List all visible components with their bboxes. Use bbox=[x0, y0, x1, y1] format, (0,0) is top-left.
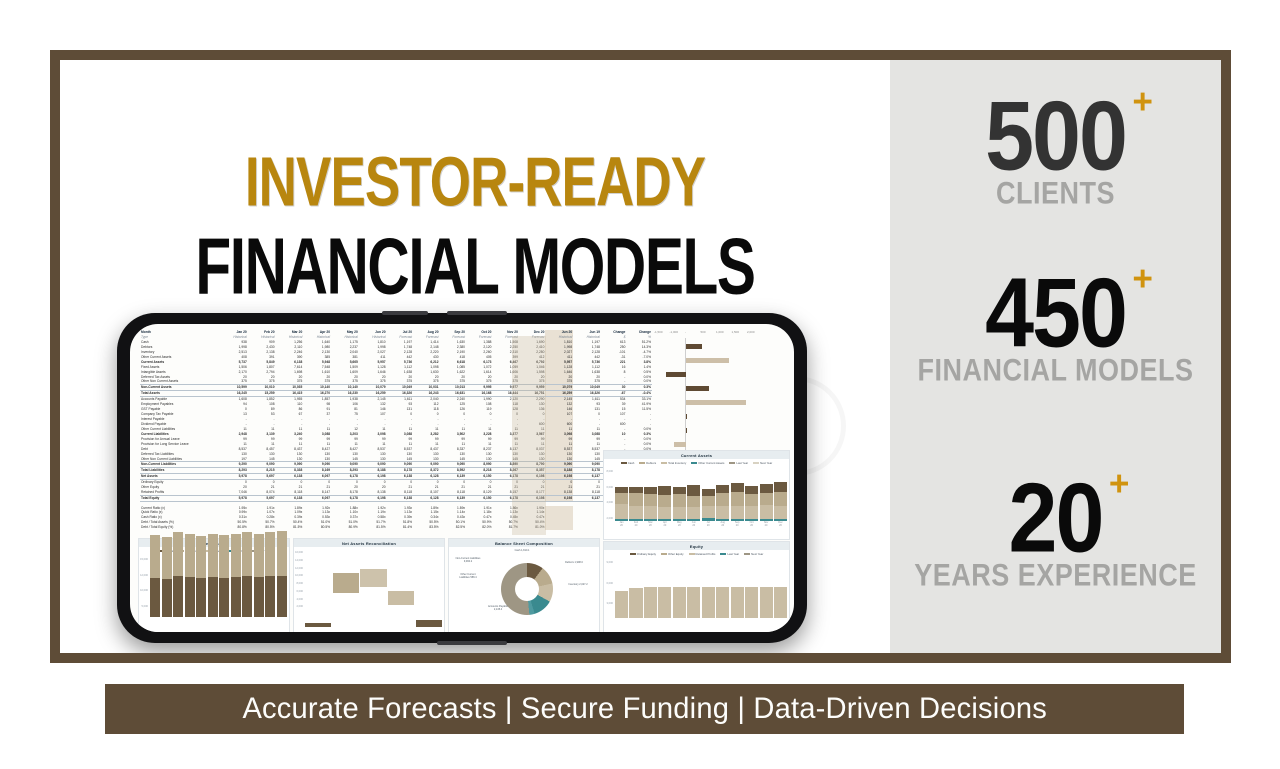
legend-swatch bbox=[639, 462, 645, 464]
bar-segment bbox=[196, 536, 206, 578]
cell: 80.5% bbox=[248, 525, 276, 530]
x-tick-label: Apr20 bbox=[658, 522, 671, 530]
bar-segment bbox=[774, 482, 787, 492]
legend-swatch bbox=[689, 553, 695, 555]
bar-segment bbox=[745, 494, 758, 506]
chart-title-composition: Balance Sheet Composition bbox=[449, 539, 599, 547]
variance-bar bbox=[686, 414, 687, 419]
bar-segment bbox=[644, 506, 657, 519]
bar-segment bbox=[658, 507, 671, 519]
bar-group bbox=[716, 485, 729, 521]
pie-slice-label: Other Current Liabilities 588.4 bbox=[455, 573, 481, 579]
x-tick-label: Jan20 bbox=[615, 522, 628, 530]
bar-segment bbox=[716, 587, 729, 618]
row-label: Debt / Total Equity (%) bbox=[140, 525, 220, 530]
bar-segment bbox=[687, 587, 700, 618]
bar-group bbox=[731, 483, 744, 521]
axis-label: 14,000 bbox=[295, 559, 303, 562]
bar-segment bbox=[185, 534, 195, 577]
stats-rail: 500+ CLIENTS 450+ FINANCIAL MODELS 20+ Y… bbox=[890, 60, 1221, 653]
bar-segment bbox=[731, 492, 744, 506]
bar-segment bbox=[185, 577, 195, 617]
balance-sheet-grid[interactable]: MonthJan 20Feb 20Mar 20Apr 20May 20Jun 2… bbox=[140, 330, 652, 535]
bar-segment bbox=[615, 591, 628, 618]
bar-segment bbox=[702, 587, 715, 618]
x-tick-label: Nov20 bbox=[760, 522, 773, 530]
axis-label: 4,000 bbox=[297, 598, 304, 601]
bar-segment bbox=[388, 591, 414, 605]
cell: 80.9% bbox=[331, 525, 359, 530]
x-tick-label: Jun20 bbox=[687, 522, 700, 530]
plus-icon: + bbox=[1132, 86, 1153, 119]
axis-label: 5,000 bbox=[142, 605, 149, 608]
legend-item: Next Year bbox=[753, 461, 772, 465]
stat-number-clients: 500+ bbox=[985, 91, 1126, 182]
bar-group bbox=[231, 534, 241, 617]
legend-swatch bbox=[691, 462, 697, 464]
bar-segment bbox=[774, 506, 787, 519]
bar-segment bbox=[760, 484, 773, 493]
bar-segment bbox=[208, 534, 218, 577]
stat-caption-financial-models: FINANCIAL MODELS bbox=[890, 354, 1221, 387]
bar-segment bbox=[760, 587, 773, 618]
bar-segment bbox=[702, 489, 715, 496]
axis-tick: 2,000 bbox=[747, 330, 755, 334]
bar-group bbox=[615, 487, 628, 521]
chart-legend-current-assets: CashDebtorsTotal InventoryOther Current … bbox=[604, 459, 789, 466]
bar-group bbox=[760, 484, 773, 521]
axis-label: 16,000 bbox=[295, 551, 303, 554]
bar-group bbox=[673, 487, 686, 521]
bar-segment bbox=[277, 531, 287, 576]
bar-group bbox=[242, 532, 252, 617]
axis-label: 10,000 bbox=[295, 574, 303, 577]
bar-segment bbox=[687, 496, 700, 507]
axis-label: 12,000 bbox=[295, 567, 303, 570]
x-labels-current-assets: Jan20Feb20Mar20Apr20May20Jun20Jul20Aug20… bbox=[615, 522, 787, 530]
x-tick-label: Oct20 bbox=[745, 522, 758, 530]
bar-segment bbox=[629, 506, 642, 518]
bar-segment bbox=[150, 578, 160, 617]
x-tick-label: Dec20 bbox=[774, 522, 787, 530]
variance-bar bbox=[674, 442, 686, 447]
bar-segment bbox=[745, 587, 758, 618]
bar-segment bbox=[687, 507, 700, 519]
showcase-panel: INVESTOR-READY FINANCIAL MODELS MonthJan… bbox=[60, 60, 890, 653]
balance-sheet-table[interactable]: MonthJan 20Feb 20Mar 20Apr 20May 20Jun 2… bbox=[140, 330, 652, 530]
variance-bar bbox=[686, 428, 687, 433]
bar-segment bbox=[162, 537, 172, 579]
table-row[interactable]: Debt / Total Equity (%)80.8%80.5%81.5%80… bbox=[140, 525, 652, 530]
bars-reconciliation bbox=[305, 549, 442, 627]
chart-panel-composition[interactable]: Balance Sheet Composition Cash 1,810.1De… bbox=[448, 538, 600, 632]
bar-segment bbox=[629, 493, 642, 507]
bar-segment bbox=[731, 483, 744, 492]
bar-segment bbox=[333, 573, 359, 593]
bar-group bbox=[702, 587, 715, 618]
bar-group bbox=[196, 536, 206, 617]
bar-group bbox=[745, 486, 758, 521]
axis-tick: - bbox=[685, 330, 686, 334]
bar-segment bbox=[265, 576, 275, 617]
bar-segment bbox=[702, 506, 715, 518]
bar-group bbox=[615, 591, 628, 618]
legend-item: Cash bbox=[621, 461, 635, 465]
bar-segment bbox=[760, 493, 773, 506]
donut-hole bbox=[515, 577, 539, 601]
bar-group bbox=[277, 531, 287, 617]
bar-segment bbox=[687, 485, 700, 495]
bar-segment bbox=[196, 578, 206, 617]
legend-item: Retained Profits bbox=[689, 552, 716, 556]
x-tick-label: Mar20 bbox=[644, 522, 657, 530]
chart-title-reconciliation: Net Assets Reconciliation bbox=[294, 539, 444, 547]
bar-segment bbox=[716, 506, 729, 519]
bar-segment bbox=[644, 487, 657, 494]
cell: 81.5% bbox=[359, 525, 387, 530]
bar-group bbox=[644, 587, 657, 618]
legend-item: Total Inventory bbox=[661, 461, 686, 465]
legend-swatch bbox=[661, 553, 667, 555]
tagline-text: Accurate Forecasts | Secure Funding | Da… bbox=[242, 692, 1047, 726]
cell bbox=[545, 525, 573, 530]
headline-line-1: INVESTOR-READY bbox=[89, 148, 861, 218]
bar-segment bbox=[745, 486, 758, 494]
bar-segment bbox=[629, 588, 642, 619]
chart-panel-net-assets[interactable]: Net Assets AssetsLiabilitiesNet AssetsLa… bbox=[138, 538, 290, 632]
x-tick-label: Feb20 bbox=[629, 522, 642, 530]
financial-model-dashboard: MonthJan 20Feb 20Mar 20Apr 20May 20Jun 2… bbox=[130, 324, 794, 632]
variance-bar bbox=[686, 400, 746, 405]
hero-inner-panel: INVESTOR-READY FINANCIAL MODELS MonthJan… bbox=[60, 60, 1221, 653]
bars-equity bbox=[615, 559, 787, 618]
chart-title-current-assets: Current Assets bbox=[604, 451, 789, 459]
cell: 80.5% bbox=[303, 525, 331, 530]
bar-group bbox=[658, 486, 671, 521]
cell: 83.5% bbox=[413, 525, 439, 530]
bar-segment bbox=[673, 587, 686, 618]
bar-segment bbox=[673, 487, 686, 494]
x-tick-label: Sep20 bbox=[731, 522, 744, 530]
phone-screen: MonthJan 20Feb 20Mar 20Apr 20May 20Jun 2… bbox=[130, 324, 794, 632]
bar-segment bbox=[231, 577, 241, 617]
axis-tick: -1,500 bbox=[654, 330, 663, 334]
legend-swatch bbox=[621, 462, 627, 464]
bar-group bbox=[716, 587, 729, 618]
legend-swatch bbox=[720, 553, 726, 555]
stat-clients: 500+ CLIENTS bbox=[890, 96, 1221, 205]
bar-segment bbox=[702, 496, 715, 506]
stat-caption-clients: CLIENTS bbox=[890, 177, 1221, 210]
axis-label: 10,000 bbox=[140, 589, 148, 592]
legend-item: Other Equity bbox=[661, 552, 684, 556]
bar-segment bbox=[242, 576, 252, 617]
stat-financial-models: 450+ FINANCIAL MODELS bbox=[890, 273, 1221, 382]
bar-group bbox=[731, 587, 744, 618]
bar-group bbox=[629, 487, 642, 521]
y-axis-current-assets: 8,0006,0004,0002,000 bbox=[604, 466, 614, 530]
legend-item: Next Year bbox=[744, 552, 763, 556]
y-axis-reconciliation: 16,00014,00012,00010,0008,0006,0004,0002… bbox=[294, 547, 304, 631]
volume-up-button[interactable] bbox=[382, 311, 428, 315]
axis-label: 2,000 bbox=[607, 517, 614, 520]
legend-item: Other Current Assets bbox=[691, 461, 724, 465]
volume-down-button[interactable] bbox=[447, 311, 507, 315]
bar-segment bbox=[673, 507, 686, 519]
plus-icon: + bbox=[1109, 468, 1130, 501]
bar-segment bbox=[231, 534, 241, 577]
variance-bar bbox=[686, 358, 729, 363]
cell bbox=[573, 525, 601, 530]
bar-group bbox=[760, 587, 773, 618]
waterfall-bar bbox=[388, 591, 414, 627]
axis-label: 4,000 bbox=[607, 501, 614, 504]
bar-group bbox=[702, 489, 715, 521]
bar-group bbox=[658, 587, 671, 618]
legend-swatch bbox=[630, 553, 636, 555]
bar-group bbox=[208, 534, 218, 617]
bar-segment bbox=[658, 495, 671, 506]
bar-segment bbox=[254, 577, 264, 617]
bar-segment bbox=[173, 576, 183, 617]
bar-group bbox=[162, 537, 172, 618]
bar-segment bbox=[219, 578, 229, 617]
bar-segment bbox=[150, 535, 160, 578]
bars-current-assets bbox=[615, 468, 787, 521]
bar-group bbox=[745, 587, 758, 618]
axis-label: 6,000 bbox=[297, 590, 304, 593]
waterfall-bar bbox=[360, 569, 386, 627]
pie-slice-label: Cash 1,810.1 bbox=[509, 549, 535, 552]
variance-bar bbox=[686, 386, 709, 391]
cell: 82.5% bbox=[440, 525, 466, 530]
bar-group bbox=[265, 532, 275, 617]
headline-line-2: FINANCIAL MODELS bbox=[89, 228, 861, 307]
bar-segment bbox=[162, 579, 172, 618]
bar-segment bbox=[774, 492, 787, 506]
bar-segment bbox=[731, 587, 744, 618]
pie-slice-label: Non-Current Liabilities 9,090.2 bbox=[455, 557, 481, 563]
legend-swatch bbox=[753, 462, 759, 464]
bar-segment bbox=[615, 493, 628, 504]
stat-number-financial-models: 450+ bbox=[985, 268, 1126, 359]
x-tick-label: May20 bbox=[673, 522, 686, 530]
bar-segment bbox=[716, 493, 729, 505]
bar-segment bbox=[658, 587, 671, 618]
axis-label: 15,000 bbox=[140, 558, 148, 561]
legend-swatch bbox=[744, 553, 750, 555]
axis-tick: 1,000 bbox=[716, 330, 724, 334]
pie-slice-label: Inventory 2,027.2 bbox=[565, 583, 591, 586]
axis-label: 12,000 bbox=[140, 574, 148, 577]
waterfall-bar bbox=[333, 573, 359, 627]
cell: 81.4% bbox=[387, 525, 413, 530]
bar-segment bbox=[254, 534, 264, 577]
bar-segment bbox=[242, 532, 252, 576]
bar-group bbox=[173, 532, 183, 617]
stat-number-years: 20+ bbox=[1009, 473, 1103, 564]
bar-segment bbox=[277, 576, 287, 617]
pie-slice-label: Accounts Payable 2,145.4 bbox=[485, 605, 511, 611]
bar-segment bbox=[658, 486, 671, 495]
legend-item: Last Year bbox=[729, 461, 748, 465]
chart-panel-equity[interactable]: Equity Ordinary EquityOther EquityRetain… bbox=[603, 541, 790, 632]
legend-item: Last Year bbox=[720, 552, 739, 556]
waterfall-bar bbox=[305, 623, 331, 627]
bar-segment bbox=[615, 504, 628, 518]
bar-group bbox=[687, 587, 700, 618]
highlighted-column-overlay bbox=[512, 336, 546, 535]
legend-item: Debtors bbox=[639, 461, 656, 465]
bar-group bbox=[254, 534, 264, 617]
headline-block: INVESTOR-READY FINANCIAL MODELS bbox=[60, 148, 890, 291]
axis-tick: 500 bbox=[701, 330, 706, 334]
legend-swatch bbox=[661, 462, 667, 464]
stat-years-experience: 20+ YEARS EXPERIENCE bbox=[890, 478, 1221, 587]
bar-group bbox=[150, 535, 160, 617]
bar-segment bbox=[716, 485, 729, 493]
bar-segment bbox=[644, 587, 657, 618]
y-axis-net-assets: 15,00012,00010,0005,000 bbox=[139, 554, 149, 626]
axis-label: 2,000 bbox=[297, 605, 304, 608]
axis-label: 8,000 bbox=[607, 470, 614, 473]
axis-tick: -1,000 bbox=[670, 330, 679, 334]
bar-segment bbox=[416, 620, 442, 627]
bars-net-assets bbox=[150, 556, 287, 617]
axis-label: 8,000 bbox=[297, 582, 304, 585]
bar-segment bbox=[173, 532, 183, 576]
bar-segment bbox=[265, 532, 275, 576]
bar-segment bbox=[760, 505, 773, 518]
bar-segment bbox=[644, 494, 657, 506]
bar-group bbox=[687, 485, 700, 521]
y-axis-equity: 9,0006,0003,000 bbox=[604, 557, 614, 627]
smartphone-mockup: MonthJan 20Feb 20Mar 20Apr 20May 20Jun 2… bbox=[117, 313, 807, 643]
legend-swatch bbox=[729, 462, 735, 464]
variance-bar bbox=[686, 344, 702, 349]
bar-segment bbox=[731, 506, 744, 519]
pie-slice-label: Debtors 1,998.0 bbox=[561, 561, 587, 564]
cell: 80.8% bbox=[220, 525, 248, 530]
chart-panel-reconciliation[interactable]: Net Assets Reconciliation 16,00014,00012… bbox=[293, 538, 445, 632]
axis-label: 3,000 bbox=[607, 602, 614, 605]
chart-title-equity: Equity bbox=[604, 542, 789, 550]
bar-group bbox=[673, 587, 686, 618]
bar-segment bbox=[745, 506, 758, 519]
bar-segment bbox=[208, 577, 218, 617]
bar-group bbox=[185, 534, 195, 617]
bar-segment bbox=[305, 623, 331, 627]
bar-group bbox=[774, 587, 787, 618]
axis-label: 9,000 bbox=[607, 561, 614, 564]
power-button[interactable] bbox=[437, 641, 507, 645]
bar-group bbox=[774, 482, 787, 521]
cell: 82.0% bbox=[466, 525, 492, 530]
bar-segment bbox=[774, 587, 787, 618]
bar-segment bbox=[360, 569, 386, 587]
bar-group bbox=[219, 535, 229, 617]
bar-segment bbox=[673, 494, 686, 507]
cell: 81.5% bbox=[276, 525, 304, 530]
x-tick-label: Jul20 bbox=[702, 522, 715, 530]
chart-legend-equity: Ordinary EquityOther EquityRetained Prof… bbox=[604, 550, 789, 557]
tagline-banner: Accurate Forecasts | Secure Funding | Da… bbox=[105, 684, 1184, 734]
axis-tick: 1,500 bbox=[732, 330, 740, 334]
variance-bar bbox=[666, 372, 686, 377]
bar-segment bbox=[219, 535, 229, 578]
legend-item: Ordinary Equity bbox=[630, 552, 656, 556]
axis-label: 6,000 bbox=[607, 582, 614, 585]
bar-group bbox=[629, 588, 642, 619]
waterfall-bar bbox=[416, 620, 442, 627]
plus-icon: + bbox=[1132, 263, 1153, 296]
x-tick-label: Aug20 bbox=[716, 522, 729, 530]
chart-panel-current-assets[interactable]: Current Assets CashDebtorsTotal Inventor… bbox=[603, 450, 790, 540]
stat-caption-years: YEARS EXPERIENCE bbox=[890, 559, 1221, 592]
bar-group bbox=[644, 487, 657, 521]
axis-label: 6,000 bbox=[607, 486, 614, 489]
